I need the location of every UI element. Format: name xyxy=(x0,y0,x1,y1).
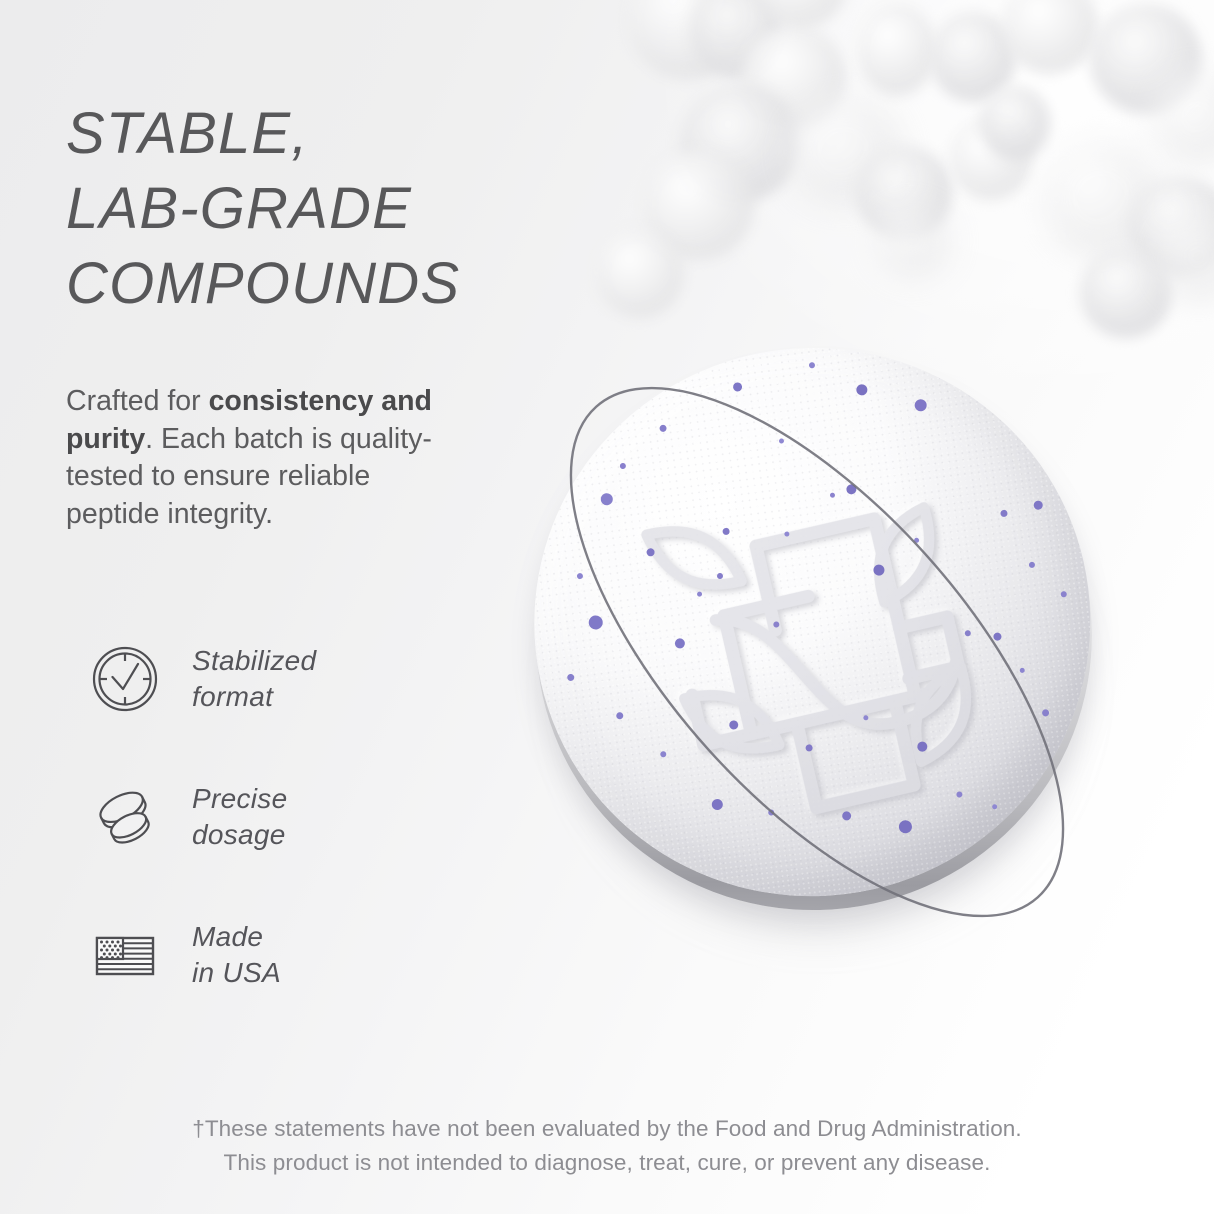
clock-icon xyxy=(88,642,162,716)
feature-label: Made in USA xyxy=(192,919,281,991)
feature-item-precise-dosage: Precise dosage xyxy=(88,776,488,858)
page-title: STABLE, LAB-GRADE COMPOUNDS xyxy=(66,96,626,321)
body-lead: Crafted for xyxy=(66,385,209,417)
feature-label: Stabilized format xyxy=(192,643,316,715)
orbit-ring xyxy=(472,322,1162,1002)
feature-item-made-in-usa: Made in USA xyxy=(88,914,488,996)
tablets-icon xyxy=(88,780,162,854)
product-feature-graphic: STABLE, LAB-GRADE COMPOUNDS Crafted for … xyxy=(0,0,1214,1214)
feature-item-stabilized-format: Stabilized format xyxy=(88,638,488,720)
product-image xyxy=(472,322,1162,1002)
feature-list: Stabilized format Precise dosage xyxy=(88,638,488,996)
body-paragraph: Crafted for consistency and purity. Each… xyxy=(66,383,441,533)
disclaimer-text: †These statements have not been evaluate… xyxy=(0,1112,1214,1180)
usa-flag-icon xyxy=(88,918,162,992)
feature-label: Precise dosage xyxy=(192,781,287,853)
